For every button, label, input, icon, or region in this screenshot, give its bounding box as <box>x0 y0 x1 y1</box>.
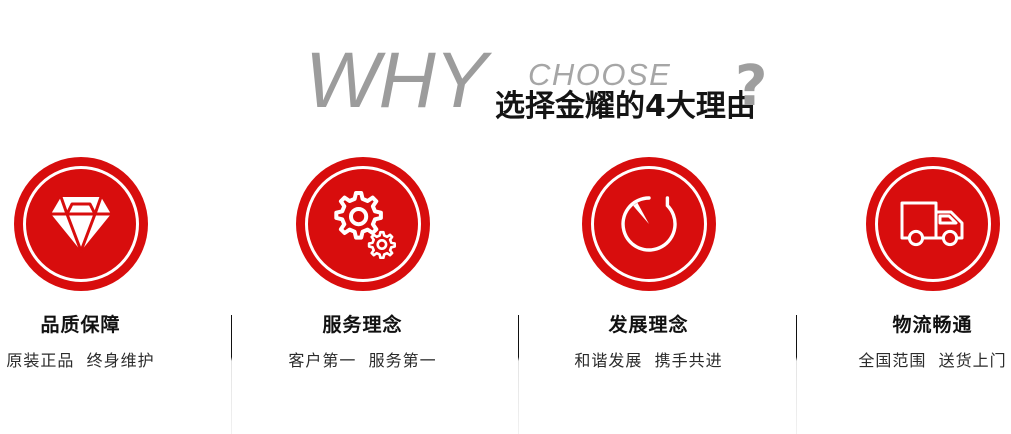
feature-title: 品质保障 <box>0 314 207 336</box>
feature-title: 物流畅通 <box>806 314 1011 336</box>
headline-choose: CHOOSE <box>528 59 671 90</box>
feature-subtitle: 原装正品 终身维护 <box>0 351 207 371</box>
diamond-icon <box>44 187 118 261</box>
feature-title: 发展理念 <box>522 314 775 336</box>
column-divider <box>518 315 519 434</box>
feature-item-quality: 品质保障 原装正品 终身维护 <box>0 145 207 395</box>
gears-icon <box>326 187 400 261</box>
feature-item-logistics: 物流畅通 全国范围 送货上门 <box>806 145 1011 395</box>
delivery-truck-icon <box>896 187 970 261</box>
headline-chinese: 选择金耀的4大理由 <box>495 92 756 122</box>
header-text-group: WHY CHOOSE 选择金耀的4大理由 ? <box>305 42 805 142</box>
column-divider <box>796 315 797 434</box>
feature-subtitle: 全国范围 送货上门 <box>806 351 1011 371</box>
feature-item-development: 发展理念 和谐发展 携手共进 <box>522 145 775 395</box>
feature-subtitle: 客户第一 服务第一 <box>236 351 489 371</box>
page-header: WHY CHOOSE 选择金耀的4大理由 ? <box>0 0 1011 145</box>
feature-badge <box>296 157 430 291</box>
stopwatch-icon <box>612 187 686 261</box>
headline-why: WHY <box>305 40 486 119</box>
features-row: 品质保障 原装正品 终身维护 服务理念 客户第一 服务第一 <box>0 145 1011 434</box>
feature-subtitle: 和谐发展 携手共进 <box>522 351 775 371</box>
feature-badge <box>582 157 716 291</box>
column-divider <box>231 315 232 434</box>
feature-item-service: 服务理念 客户第一 服务第一 <box>236 145 489 395</box>
feature-badge <box>866 157 1000 291</box>
feature-title: 服务理念 <box>236 314 489 336</box>
feature-badge <box>14 157 148 291</box>
question-mark-icon: ? <box>735 59 767 115</box>
